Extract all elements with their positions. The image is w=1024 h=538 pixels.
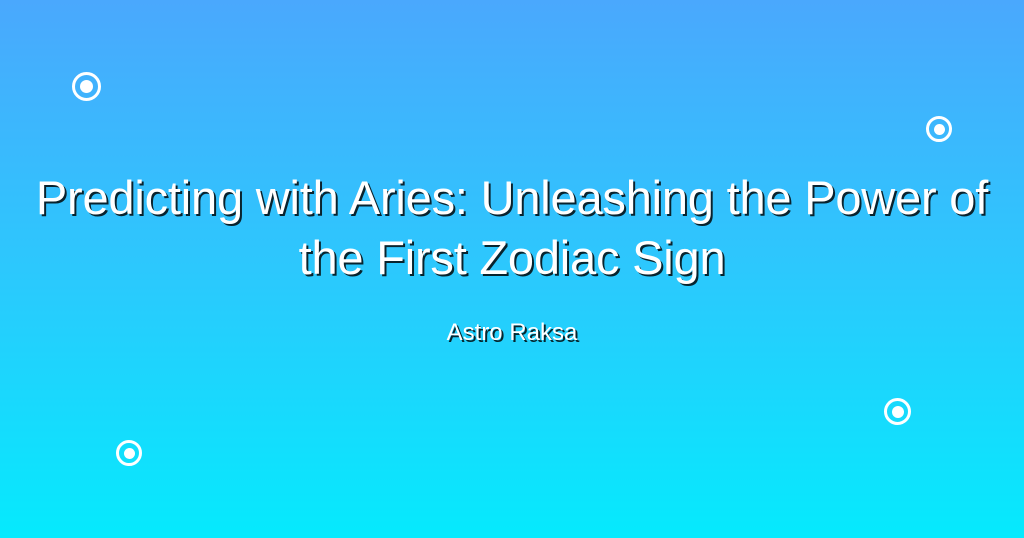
- ring-dot-bottom-left-icon: [116, 440, 142, 466]
- ring-dot-bottom-right-icon: [884, 398, 911, 425]
- ring-dot-center: [80, 80, 93, 93]
- ring-dot-center: [124, 448, 135, 459]
- ring-dot-top-right-icon: [926, 116, 952, 142]
- ring-dot-center: [934, 124, 945, 135]
- ring-dot-center: [892, 406, 904, 418]
- title-slide: Predicting with Aries: Unleashing the Po…: [0, 0, 1024, 538]
- slide-content: Predicting with Aries: Unleashing the Po…: [0, 168, 1024, 348]
- ring-dot-top-left-icon: [72, 72, 101, 101]
- slide-title: Predicting with Aries: Unleashing the Po…: [26, 168, 998, 288]
- slide-subtitle: Astro Raksa: [26, 318, 998, 348]
